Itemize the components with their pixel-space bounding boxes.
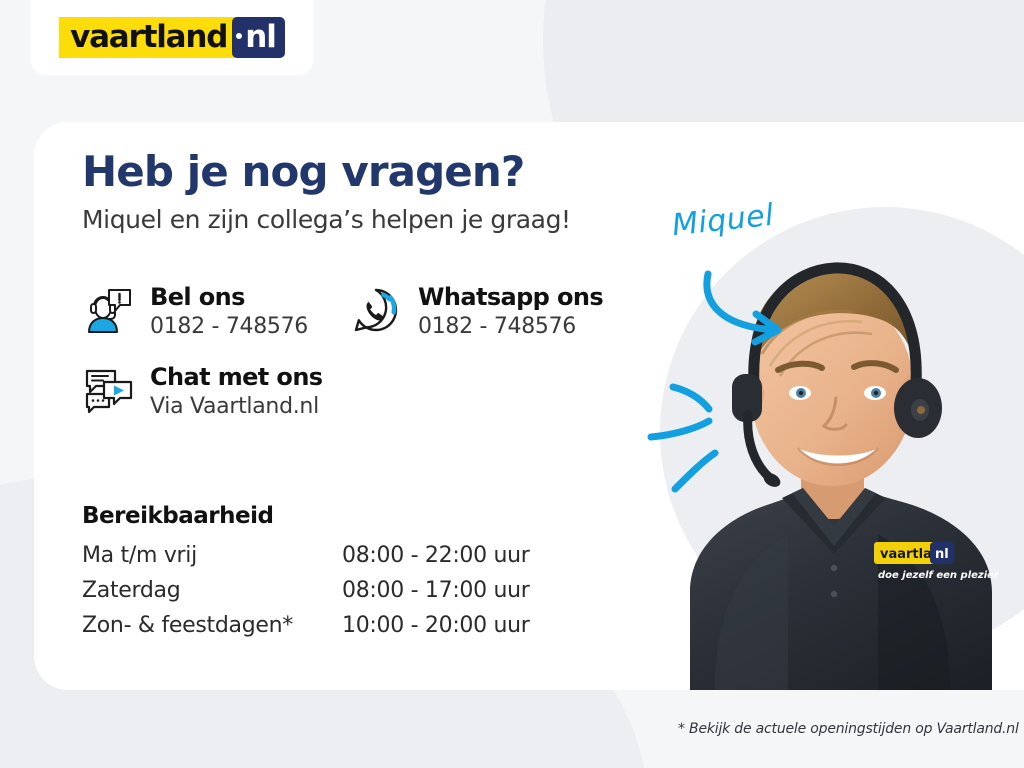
- hours-day: Zon- & feestdagen*: [82, 613, 342, 648]
- contact-chat-text: Chat met ons Via Vaartland.nl: [150, 362, 323, 420]
- contact-whatsapp-title: Whatsapp ons: [418, 283, 603, 311]
- contact-chat-value: Via Vaartland.nl: [150, 395, 323, 419]
- logo-tld-text: nl: [245, 22, 276, 53]
- chat-bubbles-icon: [82, 364, 134, 416]
- contact-call-value: 0182 - 748576: [150, 315, 308, 339]
- whatsapp-icon: [350, 284, 402, 336]
- accent-sparks-icon: [645, 365, 755, 505]
- contact-chat-title: Chat met ons: [150, 363, 323, 391]
- curved-arrow-icon: [700, 268, 810, 348]
- hours-time: 08:00 - 22:00 uur: [342, 543, 530, 578]
- vaartland-logo[interactable]: vaartland nl: [31, 0, 313, 75]
- headset-person-icon: [82, 284, 134, 336]
- svg-text:nl: nl: [935, 547, 949, 562]
- promo-banner: vaartland nl doe jezelf een plezier Miqu…: [0, 0, 1024, 768]
- logo-dot-icon: [236, 33, 242, 39]
- hero-text-block: Heb je nog vragen? Miquel en zijn colleg…: [82, 150, 642, 234]
- table-row: Ma t/m vrij 08:00 - 22:00 uur: [82, 543, 530, 578]
- hours-day: Zaterdag: [82, 578, 342, 613]
- opening-hours: Bereikbaarheid Ma t/m vrij 08:00 - 22:00…: [82, 503, 582, 648]
- contact-call[interactable]: Bel ons 0182 - 748576: [82, 282, 350, 340]
- hours-time: 08:00 - 17:00 uur: [342, 578, 530, 613]
- logo-lockup: vaartland nl: [59, 17, 285, 58]
- contact-call-text: Bel ons 0182 - 748576: [150, 282, 308, 340]
- contact-whatsapp-text: Whatsapp ons 0182 - 748576: [418, 282, 603, 340]
- opening-hours-table: Ma t/m vrij 08:00 - 22:00 uur Zaterdag 0…: [82, 543, 530, 648]
- hours-day: Ma t/m vrij: [82, 543, 342, 578]
- logo-wordmark: vaartland: [59, 17, 236, 58]
- page-title: Heb je nog vragen?: [82, 150, 642, 194]
- table-row: Zon- & feestdagen* 10:00 - 20:00 uur: [82, 613, 530, 648]
- contact-whatsapp-value: 0182 - 748576: [418, 315, 603, 339]
- contact-call-title: Bel ons: [150, 283, 245, 311]
- opening-hours-title: Bereikbaarheid: [82, 503, 582, 529]
- footnote-text: * Bekijk de actuele openingstijden op Va…: [678, 721, 1019, 737]
- hours-time: 10:00 - 20:00 uur: [342, 613, 530, 648]
- contact-row-primary: Bel ons 0182 - 748576 Whatsapp ons 0182 …: [82, 282, 642, 340]
- contact-whatsapp[interactable]: Whatsapp ons 0182 - 748576: [350, 282, 603, 340]
- contact-chat[interactable]: Chat met ons Via Vaartland.nl: [82, 362, 350, 420]
- page-subtitle: Miquel en zijn collega’s helpen je graag…: [82, 206, 642, 234]
- svg-text:doe jezelf een plezier: doe jezelf een plezier: [878, 570, 1000, 581]
- table-row: Zaterdag 08:00 - 17:00 uur: [82, 578, 530, 613]
- contact-methods: Bel ons 0182 - 748576 Whatsapp ons 0182 …: [82, 282, 642, 419]
- logo-tld-badge: nl: [232, 17, 285, 58]
